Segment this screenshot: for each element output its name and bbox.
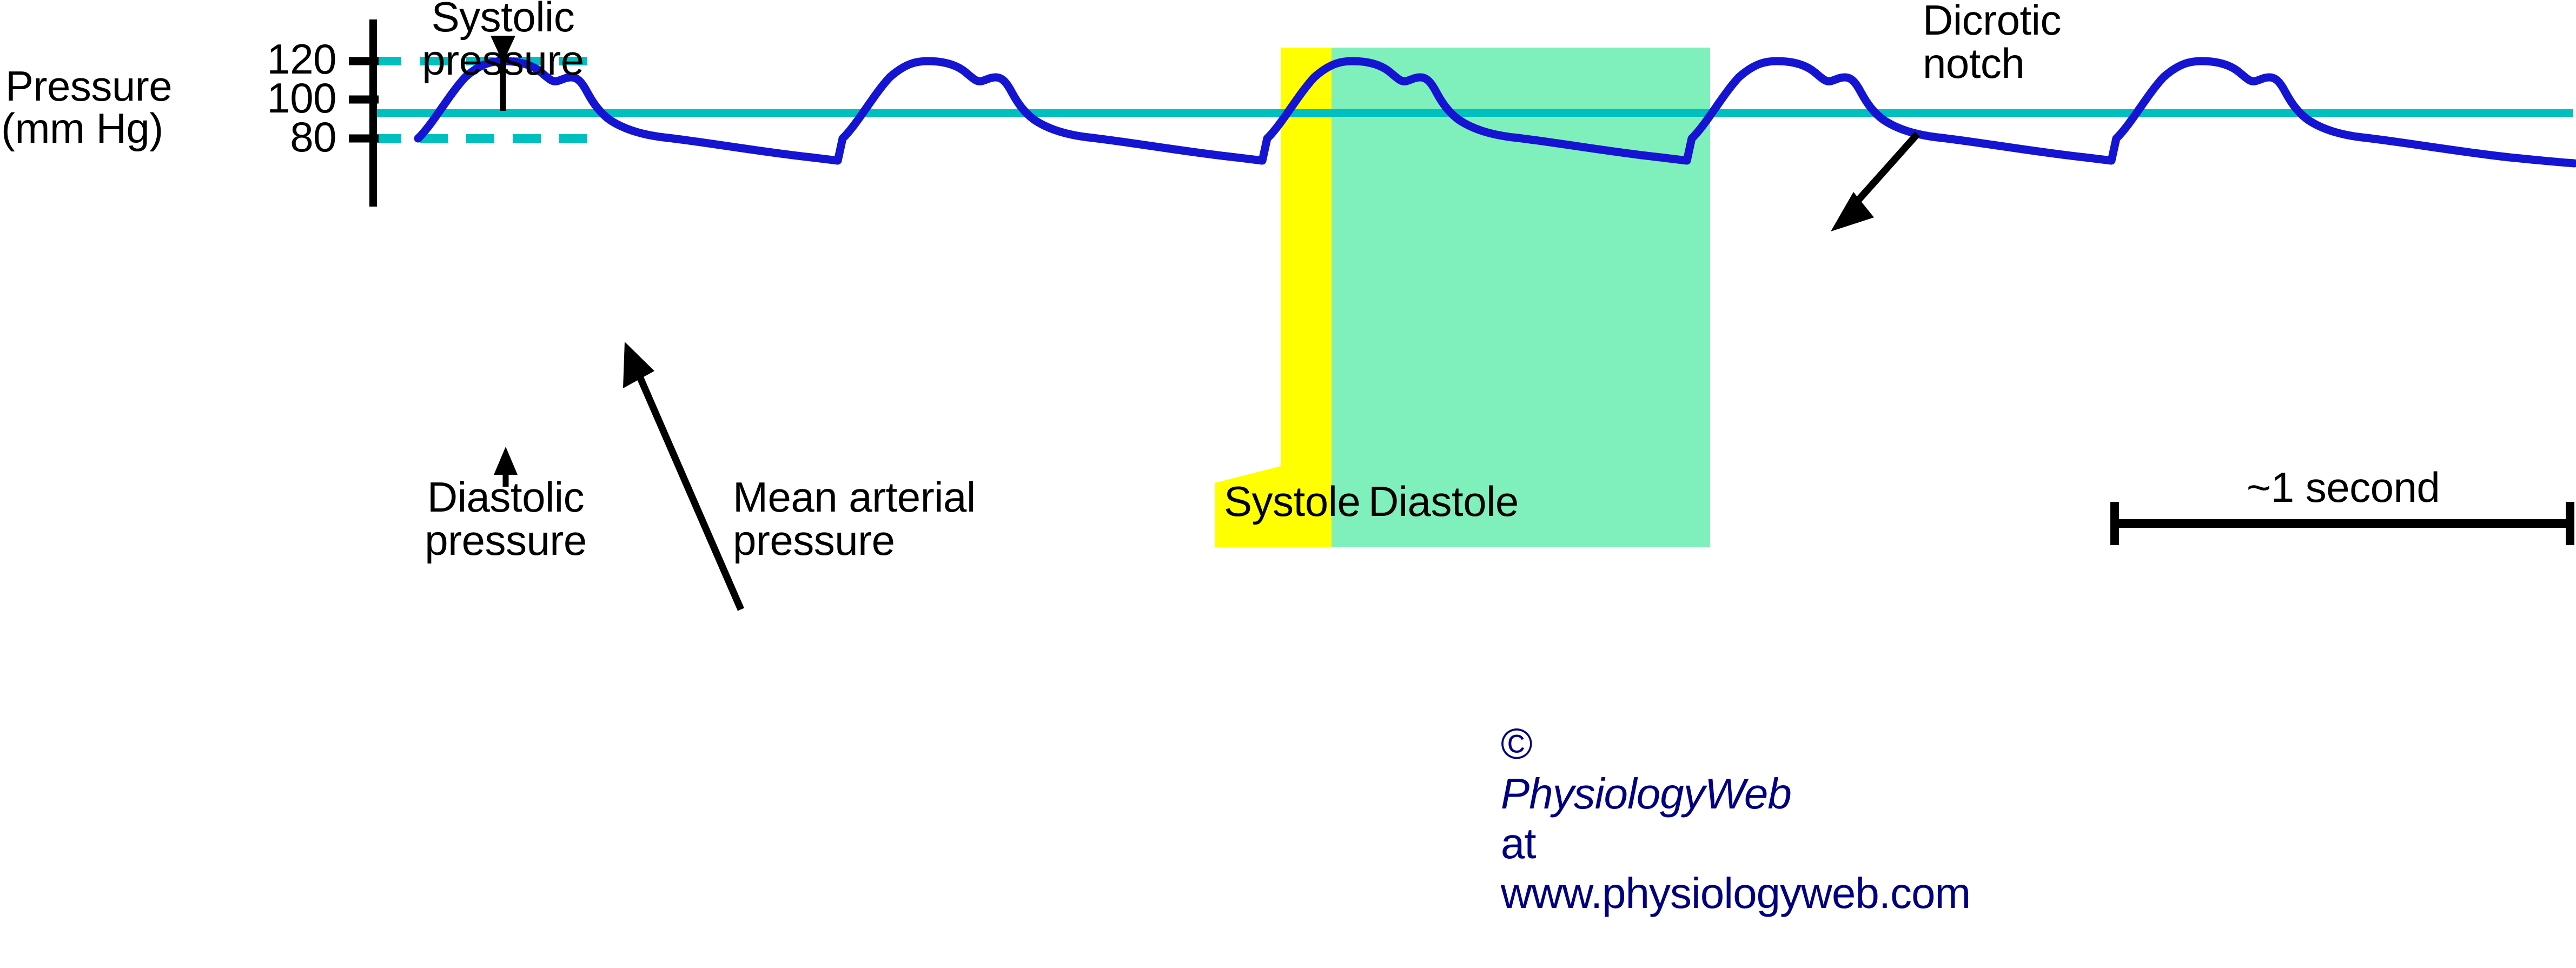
diastolic-pressure-label-line2: pressure bbox=[370, 519, 641, 562]
map-label-line1: Mean arterial bbox=[733, 476, 1079, 519]
blood-pressure-waveform-chart bbox=[0, 0, 2576, 735]
brand-name: PhysiologyWeb bbox=[1501, 770, 1791, 818]
dicrotic-notch-label-line2: notch bbox=[1923, 42, 2204, 85]
diastole-phase-label: Diastole bbox=[1368, 480, 1519, 523]
y-tick-label-80: 80 bbox=[207, 116, 336, 159]
systole-phase-label: Systole bbox=[1224, 480, 1360, 523]
y-axis-label-line2: (mm Hg) bbox=[1, 107, 163, 150]
dicrotic-annotation-arrow bbox=[1831, 134, 1917, 231]
systole-region bbox=[1215, 48, 1332, 547]
diastole-region bbox=[1332, 48, 1710, 547]
copyright-credit: © PhysiologyWeb at www.physiologyweb.com bbox=[1455, 669, 1970, 968]
credit-connector: at bbox=[1501, 819, 1536, 867]
chart-canvas: 120 100 80 Pressure (mm Hg) Systolic pre… bbox=[0, 0, 2576, 735]
dicrotic-notch-label-line1: Dicrotic bbox=[1923, 0, 2204, 42]
systolic-pressure-label-line1: Systolic bbox=[368, 0, 638, 39]
scalebar-label: ~1 second bbox=[2115, 466, 2572, 509]
systolic-pressure-label-line2: pressure bbox=[368, 39, 638, 82]
copyright-symbol: © bbox=[1501, 720, 1532, 768]
credit-url: www.physiologyweb.com bbox=[1501, 869, 1970, 917]
diastolic-annotation-arrow bbox=[494, 151, 518, 487]
y-axis-label-line1: Pressure bbox=[5, 65, 172, 108]
map-label-line2: pressure bbox=[733, 519, 1079, 562]
diastolic-pressure-label-line1: Diastolic bbox=[370, 476, 641, 519]
